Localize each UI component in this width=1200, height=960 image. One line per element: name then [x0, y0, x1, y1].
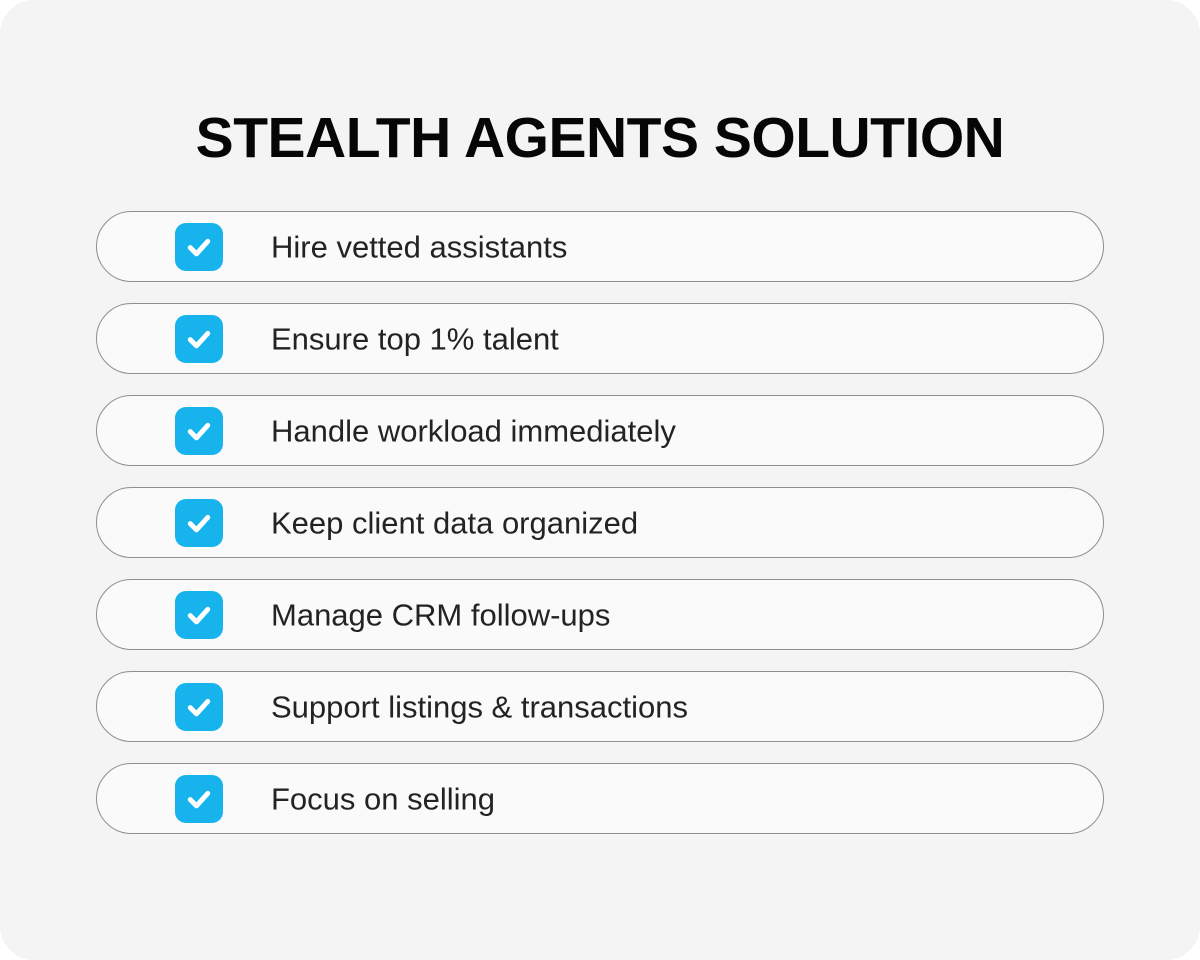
- list-item-label: Keep client data organized: [271, 507, 638, 538]
- check-icon[interactable]: [175, 499, 223, 547]
- solution-card: STEALTH AGENTS SOLUTION Hire vetted assi…: [0, 0, 1200, 960]
- list-item[interactable]: Handle workload immediately: [96, 395, 1104, 466]
- check-icon[interactable]: [175, 315, 223, 363]
- list-item-label: Hire vetted assistants: [271, 231, 567, 262]
- page-title: STEALTH AGENTS SOLUTION: [0, 110, 1200, 167]
- check-icon[interactable]: [175, 407, 223, 455]
- list-item-label: Handle workload immediately: [271, 415, 676, 446]
- checklist: Hire vetted assistants Ensure top 1% tal…: [96, 211, 1104, 834]
- list-item[interactable]: Ensure top 1% talent: [96, 303, 1104, 374]
- list-item[interactable]: Support listings & transactions: [96, 671, 1104, 742]
- check-icon[interactable]: [175, 223, 223, 271]
- check-icon[interactable]: [175, 683, 223, 731]
- list-item[interactable]: Keep client data organized: [96, 487, 1104, 558]
- list-item-label: Support listings & transactions: [271, 691, 688, 722]
- list-item[interactable]: Manage CRM follow-ups: [96, 579, 1104, 650]
- list-item[interactable]: Hire vetted assistants: [96, 211, 1104, 282]
- check-icon[interactable]: [175, 775, 223, 823]
- list-item[interactable]: Focus on selling: [96, 763, 1104, 834]
- list-item-label: Ensure top 1% talent: [271, 323, 559, 354]
- check-icon[interactable]: [175, 591, 223, 639]
- list-item-label: Manage CRM follow-ups: [271, 599, 610, 630]
- list-item-label: Focus on selling: [271, 783, 495, 814]
